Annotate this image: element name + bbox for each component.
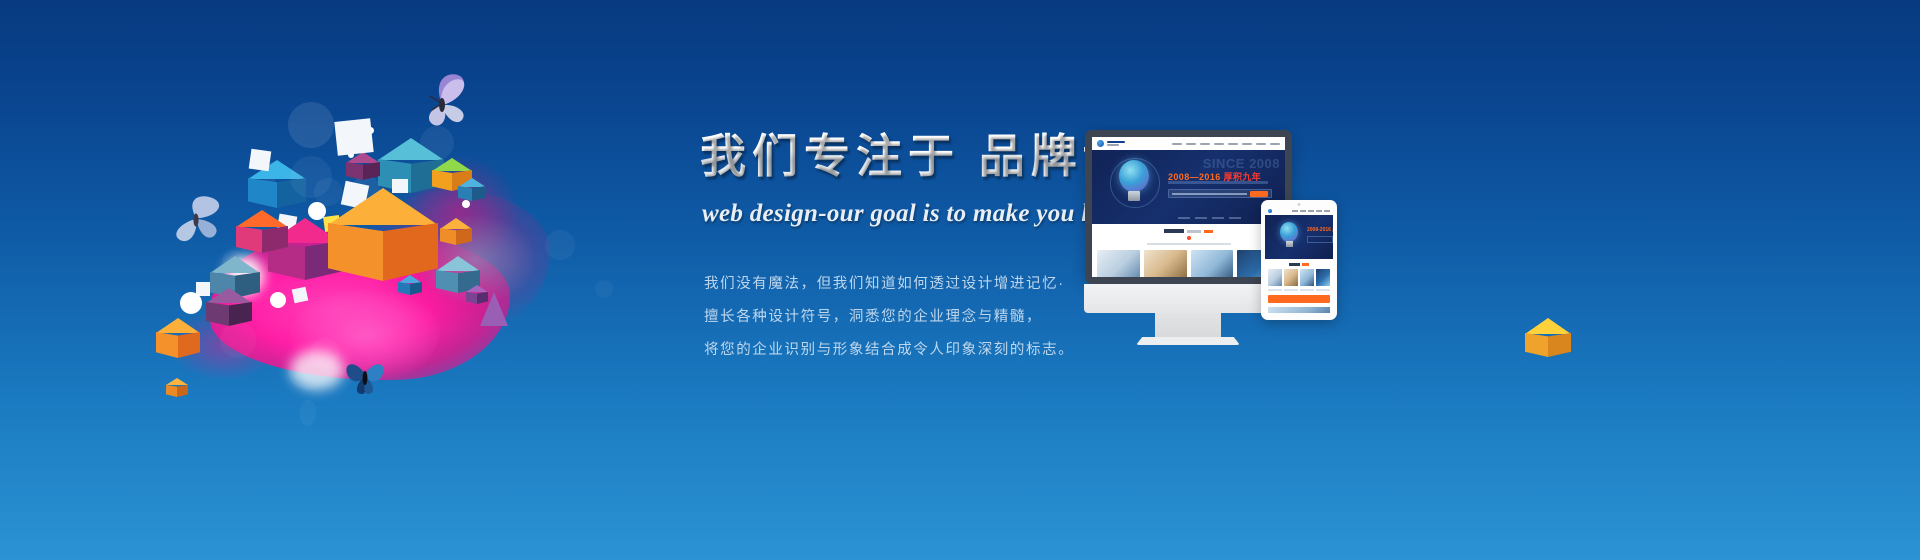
monitor-screen: SINCE 2008 2008—2016 厚积九年 <box>1092 137 1285 277</box>
thumbnail-grid <box>1097 250 1280 277</box>
cube-orange-lower <box>156 318 200 366</box>
nav-item <box>1228 143 1238 145</box>
section-heading-cn <box>1164 229 1184 233</box>
mobile-footer-image <box>1268 307 1330 313</box>
logo-bar <box>1107 141 1125 143</box>
mobile-hero: 2008-2016 厚积九年 <box>1265 215 1333 259</box>
site-content-section <box>1092 224 1285 277</box>
cube-red-orange <box>236 210 288 262</box>
site-hero: SINCE 2008 2008—2016 厚积九年 <box>1092 150 1285 224</box>
monitor-stand-neck <box>1155 313 1221 341</box>
mobile-device-mockup: 2008-2016 厚积九年 <box>1261 200 1337 320</box>
floating-yellow-cube <box>1525 318 1571 364</box>
device-mockups: SINCE 2008 2008—2016 厚积九年 <box>1085 130 1355 330</box>
section-heading <box>1097 229 1280 233</box>
butterfly-icon <box>160 190 230 248</box>
section-divider-line <box>1147 243 1231 245</box>
cube-plum <box>206 288 252 334</box>
white-dot <box>180 292 202 314</box>
thumbnail[interactable] <box>1316 269 1330 286</box>
mobile-hero-slogan: 厚积九年 <box>1332 227 1333 233</box>
site-nav-items <box>1172 143 1280 145</box>
caption-line <box>1316 289 1330 291</box>
cube-tiny-orange <box>166 378 188 400</box>
phone-camera-icon <box>1298 203 1301 206</box>
lightbulb-graphic <box>1110 158 1158 214</box>
cube-purple-small <box>346 152 380 186</box>
mobile-nav-items <box>1292 210 1330 212</box>
nav-item <box>1316 210 1322 212</box>
mobile-hero-years: 2008-2016 <box>1307 227 1331 233</box>
mobile-logo-icon <box>1268 209 1272 213</box>
caption-line <box>1300 289 1314 291</box>
bulb-base <box>1286 241 1293 247</box>
monitor-stand-foot <box>1136 337 1240 345</box>
site-logo-text <box>1107 141 1125 146</box>
bulb-base <box>1128 191 1140 201</box>
nav-item <box>1270 143 1280 145</box>
nav-item <box>1242 143 1252 145</box>
cube-small-orange <box>440 218 472 250</box>
mobile-cta-button[interactable] <box>1268 295 1330 303</box>
section-heading-cn <box>1289 263 1300 266</box>
mobile-hero-cta[interactable] <box>1307 236 1333 243</box>
pyramid-violet <box>480 292 508 326</box>
hero-subtext-bar <box>1168 181 1268 184</box>
nav-item <box>1172 143 1182 145</box>
section-heading-accent <box>1302 263 1309 266</box>
nav-item <box>1256 143 1266 145</box>
hero-ghost-text: SINCE 2008 <box>1203 156 1280 171</box>
thumbnail[interactable] <box>1268 269 1282 286</box>
nav-item <box>1200 143 1210 145</box>
caption-line <box>1284 289 1298 291</box>
abstract-artwork <box>150 60 620 460</box>
cube-right-face <box>1548 333 1571 357</box>
mobile-section-heading <box>1268 263 1330 266</box>
hero-cta-button[interactable] <box>1250 191 1268 197</box>
mobile-hero-title: 2008-2016 厚积九年 <box>1307 226 1333 233</box>
nav-item <box>1324 210 1330 212</box>
thumbnail[interactable] <box>1097 250 1140 277</box>
carousel-dot[interactable] <box>1229 217 1241 219</box>
butterfly-icon <box>408 70 474 132</box>
nav-item <box>1214 143 1224 145</box>
white-square <box>334 118 373 156</box>
section-divider-dot <box>1187 236 1191 240</box>
caption-line <box>1268 289 1282 291</box>
section-heading-accent <box>1204 230 1213 233</box>
mobile-thumbnail-captions <box>1268 289 1330 291</box>
cube-top-face <box>1525 318 1571 334</box>
nav-item <box>1300 210 1306 212</box>
hero-cta-bar <box>1168 189 1272 198</box>
nav-item <box>1292 210 1298 212</box>
carousel-dot[interactable] <box>1195 217 1207 219</box>
section-heading-en <box>1187 230 1201 233</box>
logo-bar <box>1107 144 1119 146</box>
site-navbar <box>1092 137 1285 150</box>
mobile-thumbnail-grid <box>1268 269 1330 286</box>
mobile-content <box>1265 259 1333 313</box>
bulb-glass <box>1280 222 1298 242</box>
thumbnail[interactable] <box>1284 269 1298 286</box>
carousel-dot[interactable] <box>1178 217 1190 219</box>
bulb-glass <box>1119 160 1149 192</box>
lightbulb-graphic <box>1275 221 1303 253</box>
thumbnail[interactable] <box>1144 250 1187 277</box>
cube-small-blue <box>458 178 486 206</box>
hero-carousel-dots[interactable] <box>1178 217 1241 219</box>
hero-cta-text <box>1172 193 1247 195</box>
thumbnail[interactable] <box>1191 250 1234 277</box>
cube-tiny-blue <box>398 275 422 299</box>
hero-banner: 我们专注于 品牌设计 我们专注于 品牌设计 web design-our goa… <box>0 0 1920 560</box>
cube-left-face <box>1525 333 1548 357</box>
phone-screen: 2008-2016 厚积九年 <box>1265 207 1333 313</box>
butterfly-icon <box>336 352 394 400</box>
nav-item <box>1186 143 1196 145</box>
mobile-navbar <box>1265 207 1333 215</box>
thumbnail[interactable] <box>1300 269 1314 286</box>
carousel-dot[interactable] <box>1212 217 1224 219</box>
nav-item <box>1308 210 1314 212</box>
site-logo-icon <box>1097 140 1104 147</box>
